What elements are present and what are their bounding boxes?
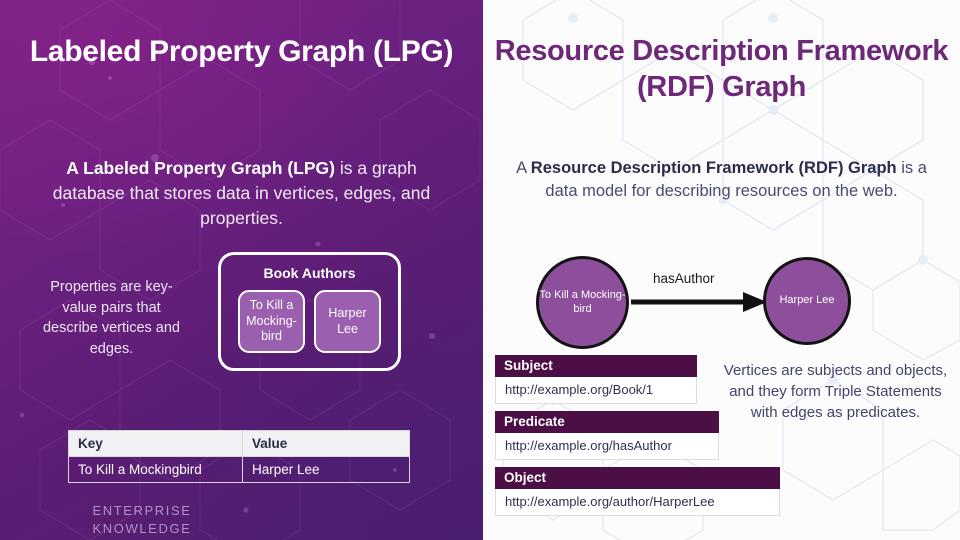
key-value-table: Key Value To Kill a Mockingbird Harper L… bbox=[68, 430, 410, 483]
triple-object-value: http://example.org/author/HarperLee bbox=[495, 489, 780, 516]
lpg-properties-note: Properties are key-value pairs that desc… bbox=[34, 277, 189, 359]
slide-root: Labeled Property Graph (LPG) A Labeled P… bbox=[0, 0, 960, 540]
triple-subject-label: Subject bbox=[495, 355, 697, 377]
lpg-title: Labeled Property Graph (LPG) bbox=[28, 34, 455, 71]
table-cell-value: Harper Lee bbox=[243, 457, 410, 483]
triple-predicate-value: http://example.org/hasAuthor bbox=[495, 433, 719, 460]
triple-subject-value: http://example.org/Book/1 bbox=[495, 377, 697, 404]
rdf-description: A Resource Description Framework (RDF) G… bbox=[509, 157, 934, 203]
triple-object: Object http://example.org/author/HarperL… bbox=[495, 467, 780, 516]
triple-object-label: Object bbox=[495, 467, 780, 489]
lpg-graph-box-title: Book Authors bbox=[221, 265, 398, 281]
rdf-vertices-note: Vertices are subjects and objects, and t… bbox=[723, 360, 948, 423]
rdf-title: Resource Description Framework (RDF) Gra… bbox=[493, 34, 950, 105]
table-cell-key: To Kill a Mockingbird bbox=[69, 457, 243, 483]
lpg-node-group: To Kill a Mocking-bird Harper Lee bbox=[221, 290, 398, 353]
table-row: To Kill a Mockingbird Harper Lee bbox=[69, 457, 410, 483]
lpg-description-bold: A Labeled Property Graph (LPG) bbox=[66, 158, 335, 178]
triple-predicate-label: Predicate bbox=[495, 411, 719, 433]
lpg-panel: Labeled Property Graph (LPG) A Labeled P… bbox=[0, 0, 483, 540]
lpg-graph-box: Book Authors To Kill a Mocking-bird Harp… bbox=[218, 252, 401, 371]
rdf-edge-label: hasAuthor bbox=[653, 271, 715, 286]
table-header-value: Value bbox=[243, 431, 410, 457]
lpg-node-book[interactable]: To Kill a Mocking-bird bbox=[238, 290, 305, 353]
rdf-description-lead: A bbox=[516, 159, 531, 177]
rdf-node-subject[interactable]: To Kill a Mocking-bird bbox=[536, 256, 629, 349]
enterprise-knowledge-logo: ENTERPRISE KNOWLEDGE bbox=[62, 502, 222, 537]
rdf-description-bold: Resource Description Framework (RDF) Gra… bbox=[531, 159, 897, 177]
lpg-node-author[interactable]: Harper Lee bbox=[314, 290, 381, 353]
rdf-graph-diagram: To Kill a Mocking-bird Harper Lee hasAut… bbox=[505, 240, 945, 356]
table-header-key: Key bbox=[69, 431, 243, 457]
rdf-node-object[interactable]: Harper Lee bbox=[763, 257, 851, 345]
table-header-row: Key Value bbox=[69, 431, 410, 457]
lpg-description: A Labeled Property Graph (LPG) is a grap… bbox=[30, 156, 453, 231]
rdf-panel: Resource Description Framework (RDF) Gra… bbox=[483, 0, 960, 540]
